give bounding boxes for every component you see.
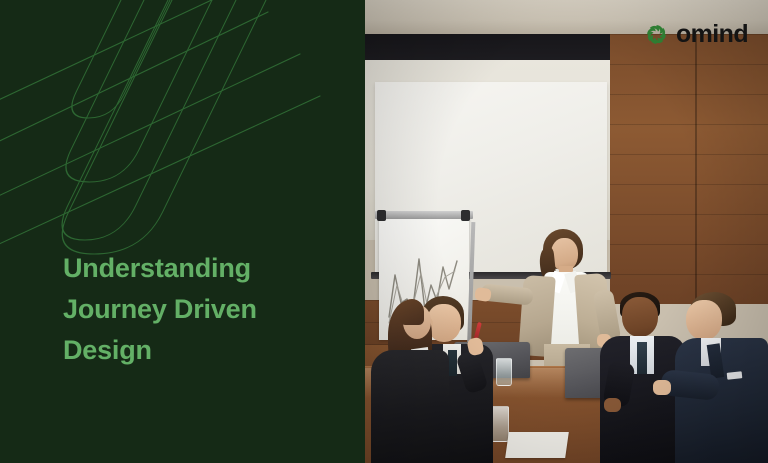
attendee-1-suit xyxy=(371,350,449,463)
page-title: Understanding Journey Driven Design xyxy=(63,248,353,371)
omind-logo[interactable]: omind xyxy=(644,22,748,47)
attendee-2-tie xyxy=(448,350,457,376)
water-glass-1 xyxy=(496,358,512,386)
attendee-1-hair-front xyxy=(399,299,424,325)
presenter-hand-left xyxy=(474,287,492,302)
water-glass-4 xyxy=(491,406,509,442)
slide-banner: Understanding Journey Driven Design xyxy=(0,0,768,463)
attendee-3-head xyxy=(622,297,658,337)
decorative-line-art xyxy=(0,0,365,463)
flipchart-clip-right xyxy=(461,210,470,221)
title-line-2: Journey Driven xyxy=(63,289,353,330)
title-line-1: Understanding xyxy=(63,248,353,289)
flipchart-top-bar xyxy=(375,211,473,219)
attendee-4-head xyxy=(686,300,722,340)
attendee-3-tie xyxy=(637,342,647,374)
attendee-3-hand xyxy=(604,398,621,412)
wood-panel-seam xyxy=(695,34,697,304)
document-front-center xyxy=(505,432,569,458)
attendee-4-hand xyxy=(653,380,671,395)
flipchart-clip-left xyxy=(377,210,386,221)
spiral-pinwheel-icon xyxy=(644,22,669,47)
left-text-panel: Understanding Journey Driven Design xyxy=(0,0,365,463)
logo-wordmark: omind xyxy=(676,22,748,47)
title-line-3: Design xyxy=(63,330,353,371)
wood-panel-right xyxy=(610,34,768,304)
meeting-room-photo xyxy=(365,0,768,463)
